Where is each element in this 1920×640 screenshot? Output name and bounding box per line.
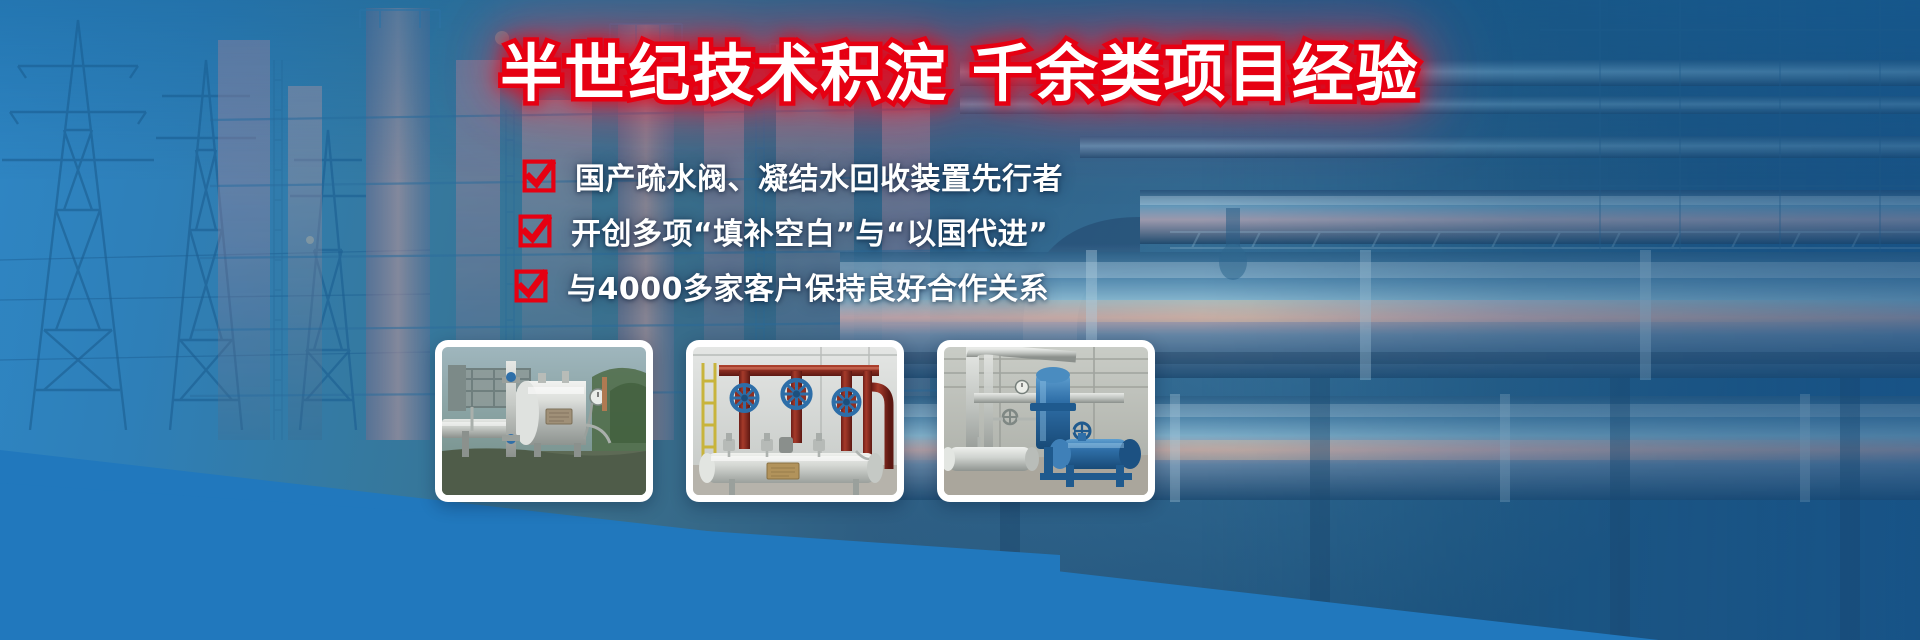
- card-condensate-recovery-vessel[interactable]: [435, 340, 653, 502]
- checkbox-checked-icon: [514, 269, 548, 303]
- bullet-text: 开创多项“填补空白”与“以国代进”: [571, 209, 1048, 253]
- list-item: 与4000多家客户保持良好合作关系: [514, 260, 1142, 312]
- list-item: 国产疏水阀、凝结水回收装置先行者: [522, 150, 1142, 202]
- checkbox-checked-icon: [522, 159, 556, 193]
- product-photo-card-list: [435, 340, 1155, 502]
- feature-bullet-list: 国产疏水阀、凝结水回收装置先行者 开创多项“填补空白”与“以国代进” 与4000…: [522, 150, 1142, 315]
- checkbox-checked-icon: [518, 214, 552, 248]
- list-item: 开创多项“填补空白”与“以国代进”: [518, 205, 1142, 257]
- product-photo: [442, 347, 646, 495]
- card-blue-skid-unit[interactable]: [937, 340, 1155, 502]
- bullet-text: 国产疏水阀、凝结水回收装置先行者: [575, 154, 1063, 198]
- card-red-pipe-valve-manifold[interactable]: [686, 340, 904, 502]
- hero-banner: 半世纪技术积淀 千余类项目经验 国产疏水阀、凝结水回收装置先行者 开创多项“填补…: [0, 0, 1920, 640]
- bullet-text: 与4000多家客户保持良好合作关系: [567, 264, 1049, 308]
- product-photo: [693, 347, 897, 495]
- product-photo: [944, 347, 1148, 495]
